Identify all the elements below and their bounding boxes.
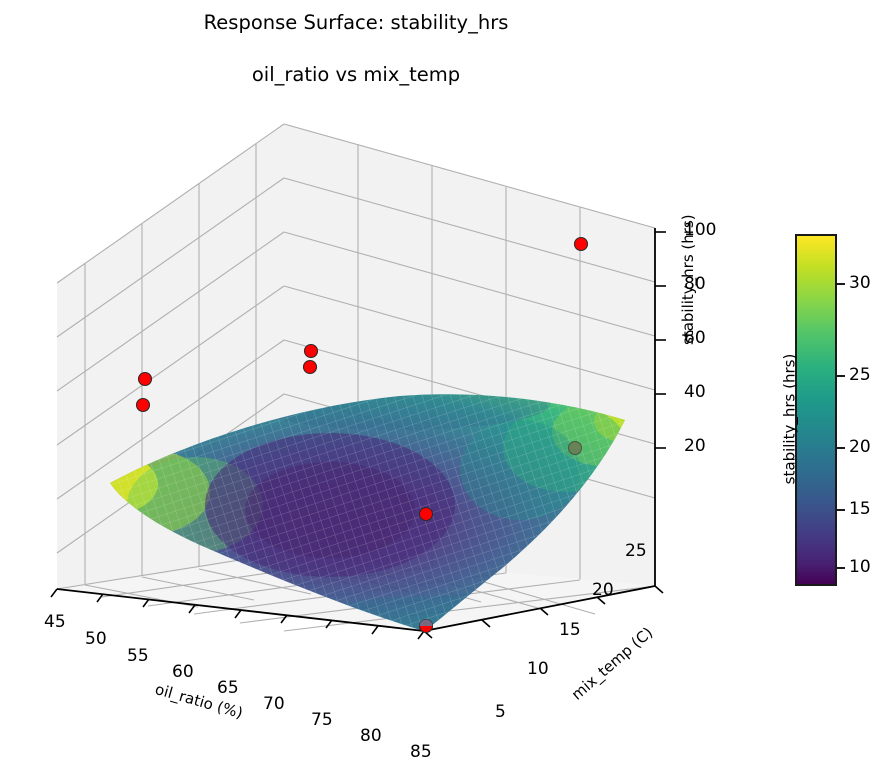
y-tick-label: 10 [527,659,549,679]
colorbar-tick-label: 30 [849,273,871,293]
colorbar-tick [837,283,845,285]
scatter-point [305,345,318,358]
colorbar-gradient [797,236,835,584]
colorbar-label: stability_hrs (hrs) [780,354,798,485]
z-tick-label: 40 [684,382,706,402]
colorbar-tick [837,567,845,569]
colorbar-tick-label: 10 [849,557,871,577]
scatter-point [137,399,150,412]
colorbar-tick-label: 25 [849,365,871,385]
x-tick-label: 65 [217,678,239,698]
figure-canvas: Response Surface: stability_hrs oil_rati… [0,0,896,775]
colorbar-tick-label: 20 [849,437,871,457]
colorbar-tick-label: 15 [849,499,871,519]
scatter-point [420,508,433,521]
y-tick-label: 15 [559,620,581,640]
x-tick-label: 70 [263,694,285,714]
x-tick-label: 45 [44,612,66,632]
y-tick-label: 5 [495,702,506,722]
z-tick-label: 20 [684,436,706,456]
colorbar-tick [837,509,845,511]
scatter-point [575,238,588,251]
y-tick-label: 25 [625,541,647,561]
colorbar[interactable] [795,234,837,586]
scatter-point-occluded [569,442,582,455]
scatter-point [304,361,317,374]
x-tick-label: 75 [311,710,333,730]
colorbar-tick [837,375,845,377]
x-tick-label: 50 [85,629,107,649]
z-axis-label: stability_hrs (hrs) [679,214,697,345]
y-tick-label: 20 [592,580,614,600]
x-tick-label: 80 [360,726,382,746]
scatter-point [139,373,152,386]
x-tick-label: 55 [127,646,149,666]
colorbar-tick [837,447,845,449]
x-tick-label: 85 [410,742,432,762]
z-axis-ticks [655,232,666,448]
x-tick-label: 60 [172,662,194,682]
